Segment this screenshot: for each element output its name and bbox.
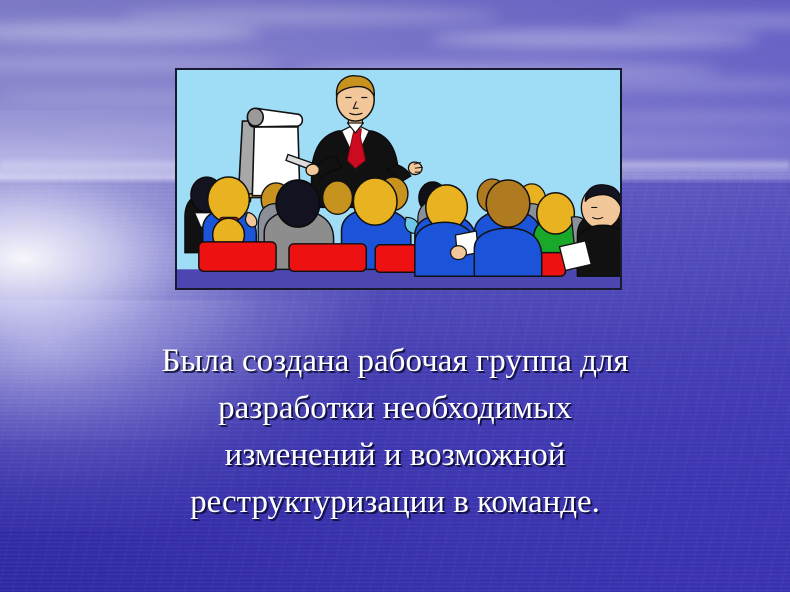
illustration-svg	[177, 70, 620, 288]
presenter-left-hand	[306, 164, 319, 175]
slide-caption-text: Была создана рабочая группа для разработ…	[40, 338, 750, 526]
illustration-meeting-presentation	[175, 68, 622, 290]
presentation-slide: Была создана рабочая группа для разработ…	[0, 0, 790, 592]
audience-foreground-overlap	[415, 222, 620, 276]
chair-back	[289, 244, 366, 271]
chair-back	[199, 242, 276, 271]
